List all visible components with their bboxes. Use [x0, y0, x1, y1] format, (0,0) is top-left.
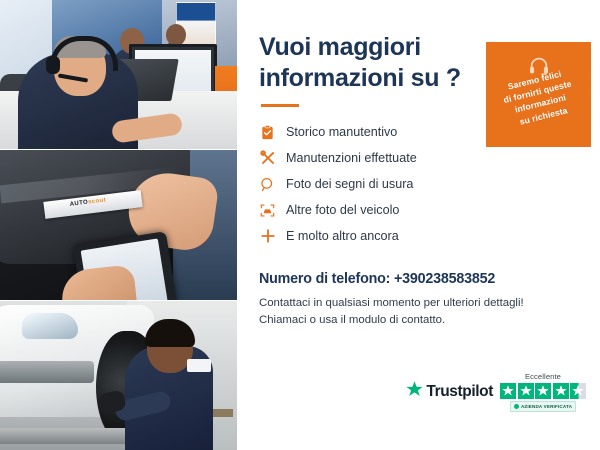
content-panel: Vuoi maggiori informazioni su ? Saremo f… — [237, 0, 600, 450]
verified-check-icon — [514, 404, 519, 409]
contact-subtext-line-2: Chiamaci o usa il modulo di contatto. — [259, 312, 582, 329]
trustpilot-widget[interactable]: Trustpilot Eccellente — [406, 372, 586, 412]
contact-subtext-line-1: Contattaci in qualsiasi momento per ulte… — [259, 295, 582, 312]
list-item-label: E molto altro ancora — [286, 229, 399, 243]
callout-badge: Saremo felici di fornirti queste informa… — [486, 42, 591, 147]
photo-column: AUTOscout — [0, 0, 237, 450]
trustpilot-stars — [500, 383, 586, 399]
magnifier-icon — [259, 176, 276, 193]
car-inspection-ruler-tablet-photo: AUTOscout — [0, 149, 237, 299]
list-item-label: Manutenzioni effettuate — [286, 151, 417, 165]
title-divider — [261, 104, 299, 107]
plus-icon — [259, 228, 276, 245]
verified-business-badge: AZIENDA VERIFICATA — [510, 401, 576, 412]
tools-cross-icon — [259, 150, 276, 167]
promo-banner: AUTOscout Vuoi maggiori informazioni su … — [0, 0, 600, 450]
star-filled-2 — [518, 383, 534, 399]
trustpilot-star-icon — [406, 381, 423, 403]
car-frame-icon — [259, 202, 276, 219]
list-item: Foto dei segni di usura — [259, 171, 582, 197]
list-item-label: Storico manutentivo — [286, 125, 397, 139]
star-filled-4 — [553, 383, 569, 399]
trustpilot-wordmark: Trustpilot — [426, 383, 493, 401]
verified-label: AZIENDA VERIFICATA — [521, 404, 572, 409]
clipboard-check-icon — [259, 124, 276, 141]
list-item-label: Foto dei segni di usura — [286, 177, 413, 191]
list-item-label: Altre foto del veicolo — [286, 203, 399, 217]
star-filled-1 — [500, 383, 516, 399]
list-item: E molto altro ancora — [259, 223, 582, 249]
page-title: Vuoi maggiori informazioni su ? — [259, 32, 474, 93]
trustpilot-rating: Eccellente — [500, 372, 586, 412]
list-item: Manutenzioni effettuate — [259, 145, 582, 171]
trustpilot-rating-label: Eccellente — [525, 372, 561, 381]
list-item: Altre foto del veicolo — [259, 197, 582, 223]
star-partial-5 — [570, 383, 586, 399]
star-filled-3 — [535, 383, 551, 399]
mechanic-wheel-service-photo — [0, 300, 237, 450]
contact-subtext: Contattaci in qualsiasi momento per ulte… — [259, 295, 582, 329]
trustpilot-logo: Trustpilot — [406, 381, 493, 403]
call-center-agent-headset-photo — [0, 0, 237, 149]
phone-number-line: Numero di telefono: +390238583852 — [259, 271, 582, 287]
